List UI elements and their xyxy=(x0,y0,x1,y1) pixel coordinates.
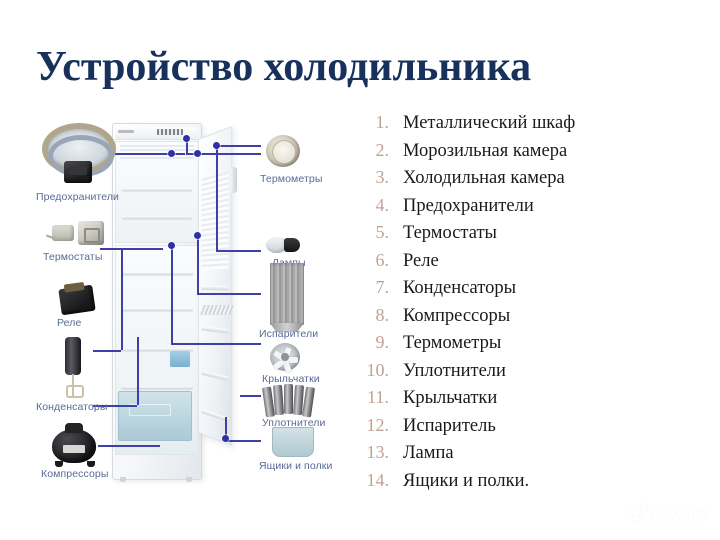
list-item-label: Предохранители xyxy=(403,196,534,217)
list-item-number: 8. xyxy=(355,305,389,326)
fridge-shelf xyxy=(121,308,193,311)
callout-line-capacitors-v xyxy=(137,337,139,405)
drawer-icon xyxy=(272,427,316,459)
hotspot-dot[interactable] xyxy=(194,150,201,157)
list-item[interactable]: 7. Конденсаторы xyxy=(355,277,685,305)
door-louver xyxy=(201,172,228,270)
list-item-label: Лампа xyxy=(403,443,454,464)
page-title: Устройство холодильника xyxy=(36,44,636,90)
ice-tray xyxy=(170,351,190,367)
callout-line-fan-v xyxy=(171,245,173,343)
fan-impeller-icon xyxy=(270,343,304,375)
list-item-label: Крыльчатки xyxy=(403,388,497,409)
list-item[interactable]: 8. Компрессоры xyxy=(355,305,685,333)
avito-wordmark: Avito xyxy=(657,502,706,526)
avito-logo-icon xyxy=(631,504,653,524)
list-item-label: Металлический шкаф xyxy=(403,113,575,134)
list-item-number: 13. xyxy=(355,442,389,463)
thermostat-icon xyxy=(50,217,114,251)
list-item-number: 1. xyxy=(355,112,389,133)
callout-line-lamps-top xyxy=(216,145,261,147)
door-handle xyxy=(230,167,237,193)
hotspot-dot[interactable] xyxy=(213,142,220,149)
list-item[interactable]: 10. Уплотнители xyxy=(355,360,685,388)
list-item-number: 14. xyxy=(355,470,389,491)
list-item[interactable]: 4. Предохранители xyxy=(355,195,685,223)
list-item-number: 9. xyxy=(355,332,389,353)
list-item-number: 6. xyxy=(355,250,389,271)
freezer-compartment xyxy=(115,141,199,243)
list-item[interactable]: 9. Термометры xyxy=(355,332,685,360)
callout-line-relay-v xyxy=(121,250,123,350)
capacitor-icon xyxy=(55,337,105,399)
list-item[interactable]: 3. Холодильная камера xyxy=(355,167,685,195)
door-rack xyxy=(201,371,228,381)
fridge-foot xyxy=(186,477,192,482)
callout-line-seals xyxy=(240,395,261,397)
callout-label-drawers: Ящики и полки xyxy=(259,460,332,472)
hotspot-dot[interactable] xyxy=(222,435,229,442)
callout-line-lamps xyxy=(216,250,261,252)
hotspot-dot[interactable] xyxy=(168,150,175,157)
evaporator-plate-icon xyxy=(270,263,310,335)
list-item-number: 7. xyxy=(355,277,389,298)
list-item-label: Холодильная камера xyxy=(403,168,565,189)
callout-label-capacitors: Конденсаторы xyxy=(36,401,108,413)
list-item-label: Ящики и полки. xyxy=(403,471,529,492)
door-shelf-grille xyxy=(200,305,234,315)
compressor-icon xyxy=(46,423,106,469)
fridge-foot xyxy=(120,477,126,482)
callout-line-lamps-v xyxy=(216,145,218,250)
freezer-shelf xyxy=(122,216,192,219)
list-item[interactable]: 12. Испаритель xyxy=(355,415,685,443)
callout-line-fan xyxy=(171,343,261,345)
list-item-number: 3. xyxy=(355,167,389,188)
callout-label-thermostats: Термостаты xyxy=(43,251,102,263)
list-item-number: 2. xyxy=(355,140,389,161)
callout-line-evaporator-v xyxy=(197,235,199,293)
list-item-number: 11. xyxy=(355,387,389,408)
hotspot-dot[interactable] xyxy=(183,135,190,142)
door-seal-icon xyxy=(264,383,320,417)
callout-line-evaporator xyxy=(197,293,261,295)
list-item-number: 12. xyxy=(355,415,389,436)
hotspot-dot[interactable] xyxy=(168,242,175,249)
list-item-label: Конденсаторы xyxy=(403,278,516,299)
list-item-label: Термометры xyxy=(403,333,501,354)
lamp-bulb-icon xyxy=(266,235,310,257)
callout-label-fuses: Предохранители xyxy=(36,191,119,203)
fridge-shelf xyxy=(121,386,193,389)
door-rack xyxy=(201,286,228,290)
list-item-label: Испаритель xyxy=(403,416,496,437)
list-item-label: Уплотнители xyxy=(403,361,506,382)
freezer-louver xyxy=(120,145,194,159)
list-item-number: 5. xyxy=(355,222,389,243)
list-item-number: 4. xyxy=(355,195,389,216)
freezer-shelf xyxy=(122,188,192,191)
callout-label-thermometers: Термометры xyxy=(260,173,322,185)
dial-thermometer-icon xyxy=(266,135,306,171)
list-item[interactable]: 5. Термостаты xyxy=(355,222,685,250)
avito-watermark: Avito xyxy=(631,502,706,526)
callout-line-compressors xyxy=(98,445,160,447)
list-item[interactable]: 13. Лампа xyxy=(355,442,685,470)
list-item-label: Реле xyxy=(403,251,439,272)
fuse-coil-icon xyxy=(42,123,112,191)
callout-label-relay: Реле xyxy=(57,317,81,329)
door-rack xyxy=(201,326,228,333)
callout-line-drawers xyxy=(225,440,261,442)
list-item[interactable]: 2. Морозильная камера xyxy=(355,140,685,168)
slide-canvas: Устройство холодильника xyxy=(0,0,720,540)
fridge-logo xyxy=(118,130,134,133)
list-item-label: Компрессоры xyxy=(403,306,510,327)
fridge-control-panel xyxy=(157,129,183,135)
list-item-number: 10. xyxy=(355,360,389,381)
callout-label-compressors: Компрессоры xyxy=(41,468,108,480)
list-item[interactable]: 14. Ящики и полки. xyxy=(355,470,685,498)
hotspot-dot[interactable] xyxy=(194,232,201,239)
callout-label-evaporator: Испарители xyxy=(259,328,318,340)
fridge-shelf xyxy=(121,272,193,275)
relay-icon xyxy=(56,283,102,317)
list-item[interactable]: 6. Реле xyxy=(355,250,685,278)
list-item-label: Термостаты xyxy=(403,223,497,244)
list-item[interactable]: 1. Металлический шкаф xyxy=(355,112,685,140)
crisper-drawer xyxy=(118,391,192,441)
list-item[interactable]: 11. Крыльчатки xyxy=(355,387,685,415)
list-item-label: Морозильная камера xyxy=(403,141,567,162)
parts-list: 1. Металлический шкаф 2. Морозильная кам… xyxy=(355,112,685,497)
refrigerator-diagram: Предохранители Термостаты Реле Конденсат… xyxy=(0,105,350,505)
